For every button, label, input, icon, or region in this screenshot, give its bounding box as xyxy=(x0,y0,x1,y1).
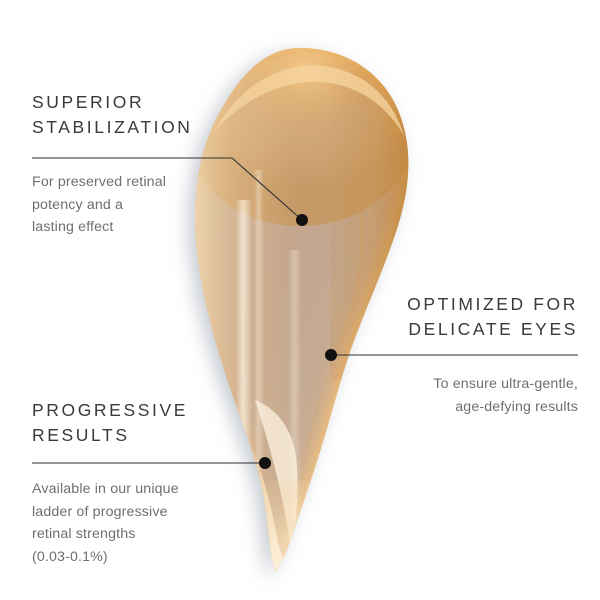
infographic-canvas: SUPERIOR STABILIZATION For preserved ret… xyxy=(0,0,600,600)
callout-progressive-results: PROGRESSIVE RESULTS Available in our uni… xyxy=(32,398,272,568)
callout-heading: PROGRESSIVE RESULTS xyxy=(32,398,272,448)
callout-body: For preserved retinal potency and a last… xyxy=(32,171,262,239)
callout-body: Available in our unique ladder of progre… xyxy=(32,478,272,568)
callout-heading: SUPERIOR STABILIZATION xyxy=(32,90,262,140)
callout-optimized-for-delicate-eyes: OPTIMIZED FOR DELICATE EYES To ensure ul… xyxy=(330,292,578,418)
marker-dot-superior xyxy=(296,214,308,226)
callout-body: To ensure ultra-gentle, age-defying resu… xyxy=(330,373,578,418)
callout-heading: OPTIMIZED FOR DELICATE EYES xyxy=(330,292,578,342)
callout-superior-stabilization: SUPERIOR STABILIZATION For preserved ret… xyxy=(32,90,262,239)
